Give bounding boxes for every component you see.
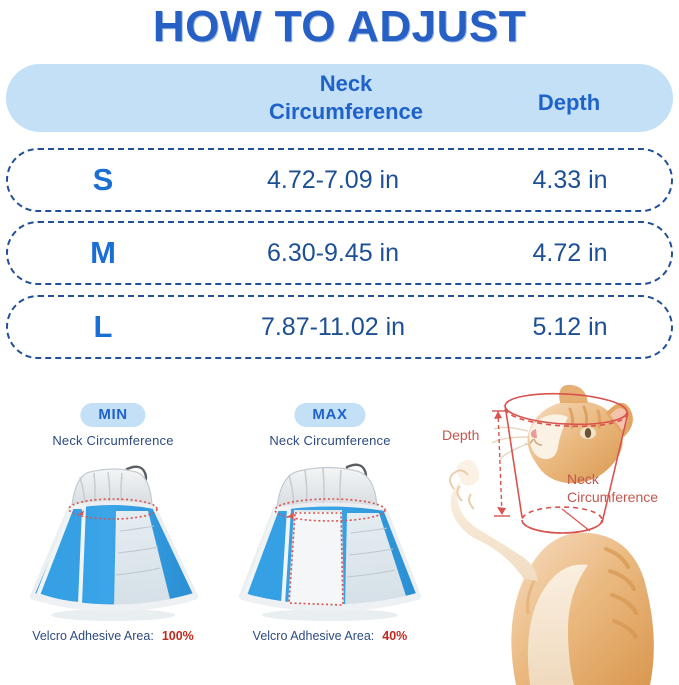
velcro-label-max: Velcro Adhesive Area: xyxy=(253,629,375,643)
annotation-neck-line2: Circumference xyxy=(567,489,658,505)
depth-value: 5.12 in xyxy=(490,297,650,357)
column-header-neck-circumference: Neck Circumference xyxy=(221,70,471,126)
cone-photo-max xyxy=(225,453,435,625)
column-header-neck-line1: Neck xyxy=(320,71,373,96)
velcro-area-max: Velcro Adhesive Area:40% xyxy=(225,629,435,643)
neck-circumference-value: 6.30-9.45 in xyxy=(188,223,478,283)
annotation-neck-circumference: Neck Circumference xyxy=(567,471,658,506)
badge-max: MAX xyxy=(294,403,365,427)
annotation-depth: Depth xyxy=(442,427,479,445)
column-header-neck-line2: Circumference xyxy=(269,99,423,124)
table-header-bar: Neck Circumference Depth xyxy=(6,64,673,132)
cone-illustration-min-icon xyxy=(8,453,218,625)
badge-min: MIN xyxy=(80,403,145,427)
velcro-value-max: 40% xyxy=(382,629,407,643)
neck-circumference-value: 4.72-7.09 in xyxy=(188,150,478,210)
table-row: L 7.87-11.02 in 5.12 in xyxy=(6,295,673,359)
velcro-label-min: Velcro Adhesive Area: xyxy=(32,629,154,643)
column-header-depth: Depth xyxy=(504,90,634,116)
cat-diagram: Depth Neck Circumference xyxy=(430,385,679,685)
cone-illustration-max-icon xyxy=(225,453,435,625)
size-label: L xyxy=(48,297,158,357)
page-title: HOW TO ADJUST xyxy=(0,2,679,52)
depth-value: 4.72 in xyxy=(490,223,650,283)
table-row: M 6.30-9.45 in 4.72 in xyxy=(6,221,673,285)
neck-circumference-value: 7.87-11.02 in xyxy=(188,297,478,357)
size-label: M xyxy=(48,223,158,283)
panel-caption-max: Neck Circumference xyxy=(225,433,435,448)
infographic-page: HOW TO ADJUST Neck Circumference Depth S… xyxy=(0,0,679,685)
annotation-neck-line1: Neck xyxy=(567,471,599,487)
cone-photo-min xyxy=(8,453,218,625)
table-row: S 4.72-7.09 in 4.33 in xyxy=(6,148,673,212)
size-label: S xyxy=(48,150,158,210)
velcro-area-min: Velcro Adhesive Area:100% xyxy=(8,629,218,643)
velcro-value-min: 100% xyxy=(162,629,194,643)
panel-caption-min: Neck Circumference xyxy=(8,433,218,448)
depth-value: 4.33 in xyxy=(490,150,650,210)
